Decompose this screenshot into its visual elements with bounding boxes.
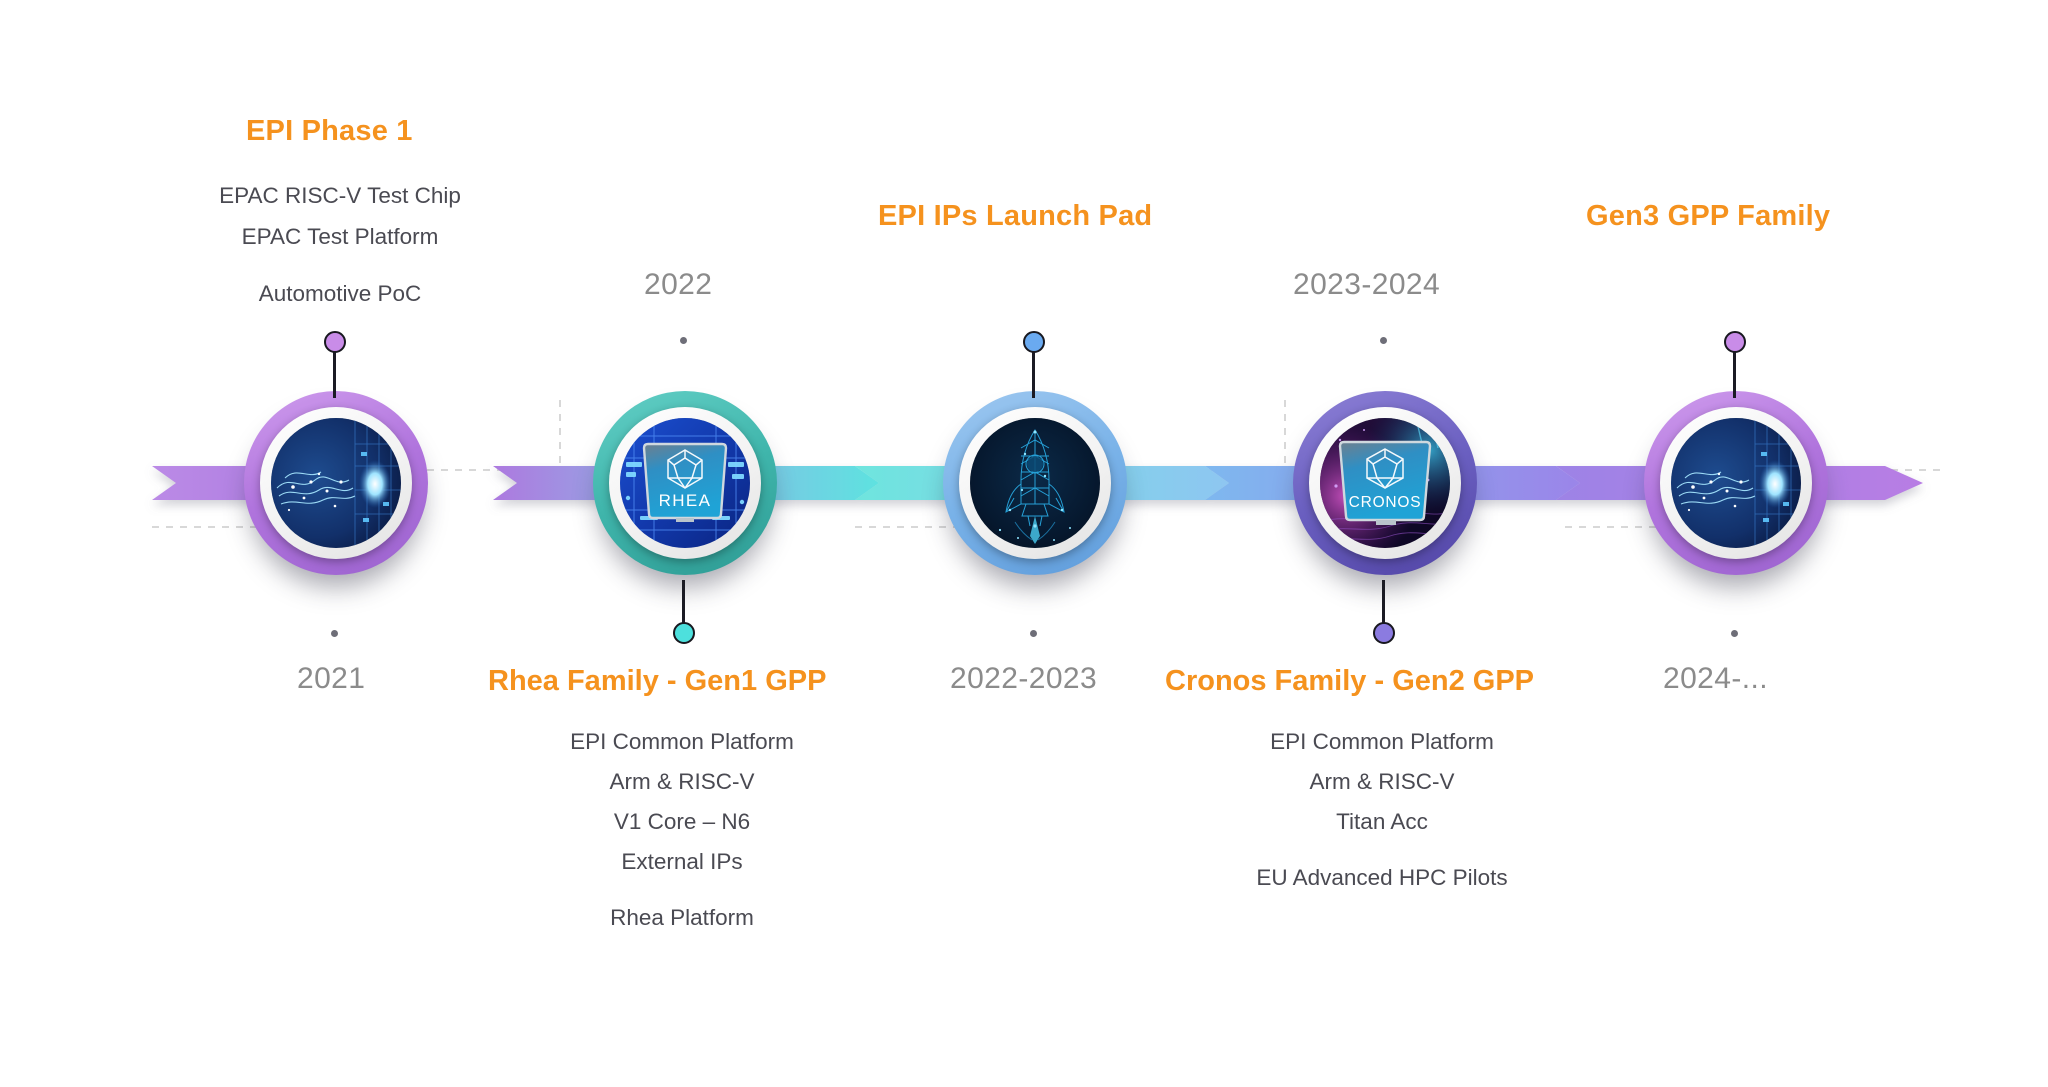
node-3-tiny-dot-below (1030, 630, 1037, 637)
node-4-marker-dot (1373, 622, 1395, 644)
timeline-node-4[interactable]: CRONOS (1293, 391, 1477, 575)
node-3-stem-up (1032, 350, 1035, 398)
node-3-marker-dot (1023, 331, 1045, 353)
node-1-header: EPI Phase 1 (246, 115, 413, 148)
node-2-bullet-1: EPI Common Platform (482, 722, 882, 762)
circuit-brain-icon (1671, 418, 1801, 548)
node-1-marker-dot (324, 331, 346, 353)
node-4-bullet-3: Titan Acc (1182, 802, 1582, 842)
timeline-node-1[interactable] (244, 391, 428, 575)
node-4-bullet-2: Arm & RISC-V (1182, 762, 1582, 802)
circuit-brain-icon (271, 418, 401, 548)
node-4-bullet-1: EPI Common Platform (1182, 722, 1582, 762)
node-5-year: 2024-... (1663, 662, 1768, 696)
node-1-bullet-2: EPAC Test Platform (140, 216, 540, 257)
node-4-tiny-dot-above (1380, 337, 1387, 344)
node-3-header: EPI IPs Launch Pad (878, 200, 1152, 233)
wireframe-rocket-icon (970, 418, 1100, 548)
node-2-bullet-5: Rhea Platform (482, 898, 882, 938)
node-3-year: 2022-2023 (950, 662, 1097, 696)
node-2-bullet-4: External IPs (482, 842, 882, 882)
node-4-bullet-4: EU Advanced HPC Pilots (1182, 858, 1582, 898)
cronos-chip-label: CRONOS (1349, 494, 1422, 511)
node-2-bullet-2: Arm & RISC-V (482, 762, 882, 802)
timeline-node-5[interactable] (1644, 391, 1828, 575)
node-1-bullet-3: Automotive PoC (140, 273, 540, 314)
node-2-year: 2022 (644, 268, 712, 302)
node-5-marker-dot (1724, 331, 1746, 353)
node-4-header: Cronos Family - Gen2 GPP (1165, 665, 1534, 698)
cronos-chip-icon: CRONOS (1320, 418, 1450, 548)
node-2-stem-down (682, 580, 685, 628)
node-1-stem-up (333, 350, 336, 398)
node-2-marker-dot (673, 622, 695, 644)
node-1-bullets: EPAC RISC-V Test Chip EPAC Test Platform… (140, 175, 540, 314)
timeline-node-2[interactable]: RHEA (593, 391, 777, 575)
node-5-header: Gen3 GPP Family (1586, 200, 1830, 233)
node-4-stem-down (1382, 580, 1385, 628)
node-4-bullets: EPI Common Platform Arm & RISC-V Titan A… (1182, 722, 1582, 898)
node-5-tiny-dot-below (1731, 630, 1738, 637)
timeline-node-3[interactable] (943, 391, 1127, 575)
timeline-infographic: EPI Phase 1 EPAC RISC-V Test Chip EPAC T… (0, 0, 2048, 1087)
node-2-bullets: EPI Common Platform Arm & RISC-V V1 Core… (482, 722, 882, 938)
node-5-stem-up (1733, 350, 1736, 398)
node-4-year: 2023-2024 (1293, 268, 1440, 302)
rhea-chip-icon: RHEA (620, 418, 750, 548)
node-1-tiny-dot-below (331, 630, 338, 637)
node-2-bullet-3: V1 Core – N6 (482, 802, 882, 842)
node-1-year: 2021 (297, 662, 365, 696)
node-2-header: Rhea Family - Gen1 GPP (488, 665, 826, 698)
node-2-tiny-dot-above (680, 337, 687, 344)
rhea-chip-label: RHEA (659, 491, 712, 510)
node-1-bullet-1: EPAC RISC-V Test Chip (140, 175, 540, 216)
